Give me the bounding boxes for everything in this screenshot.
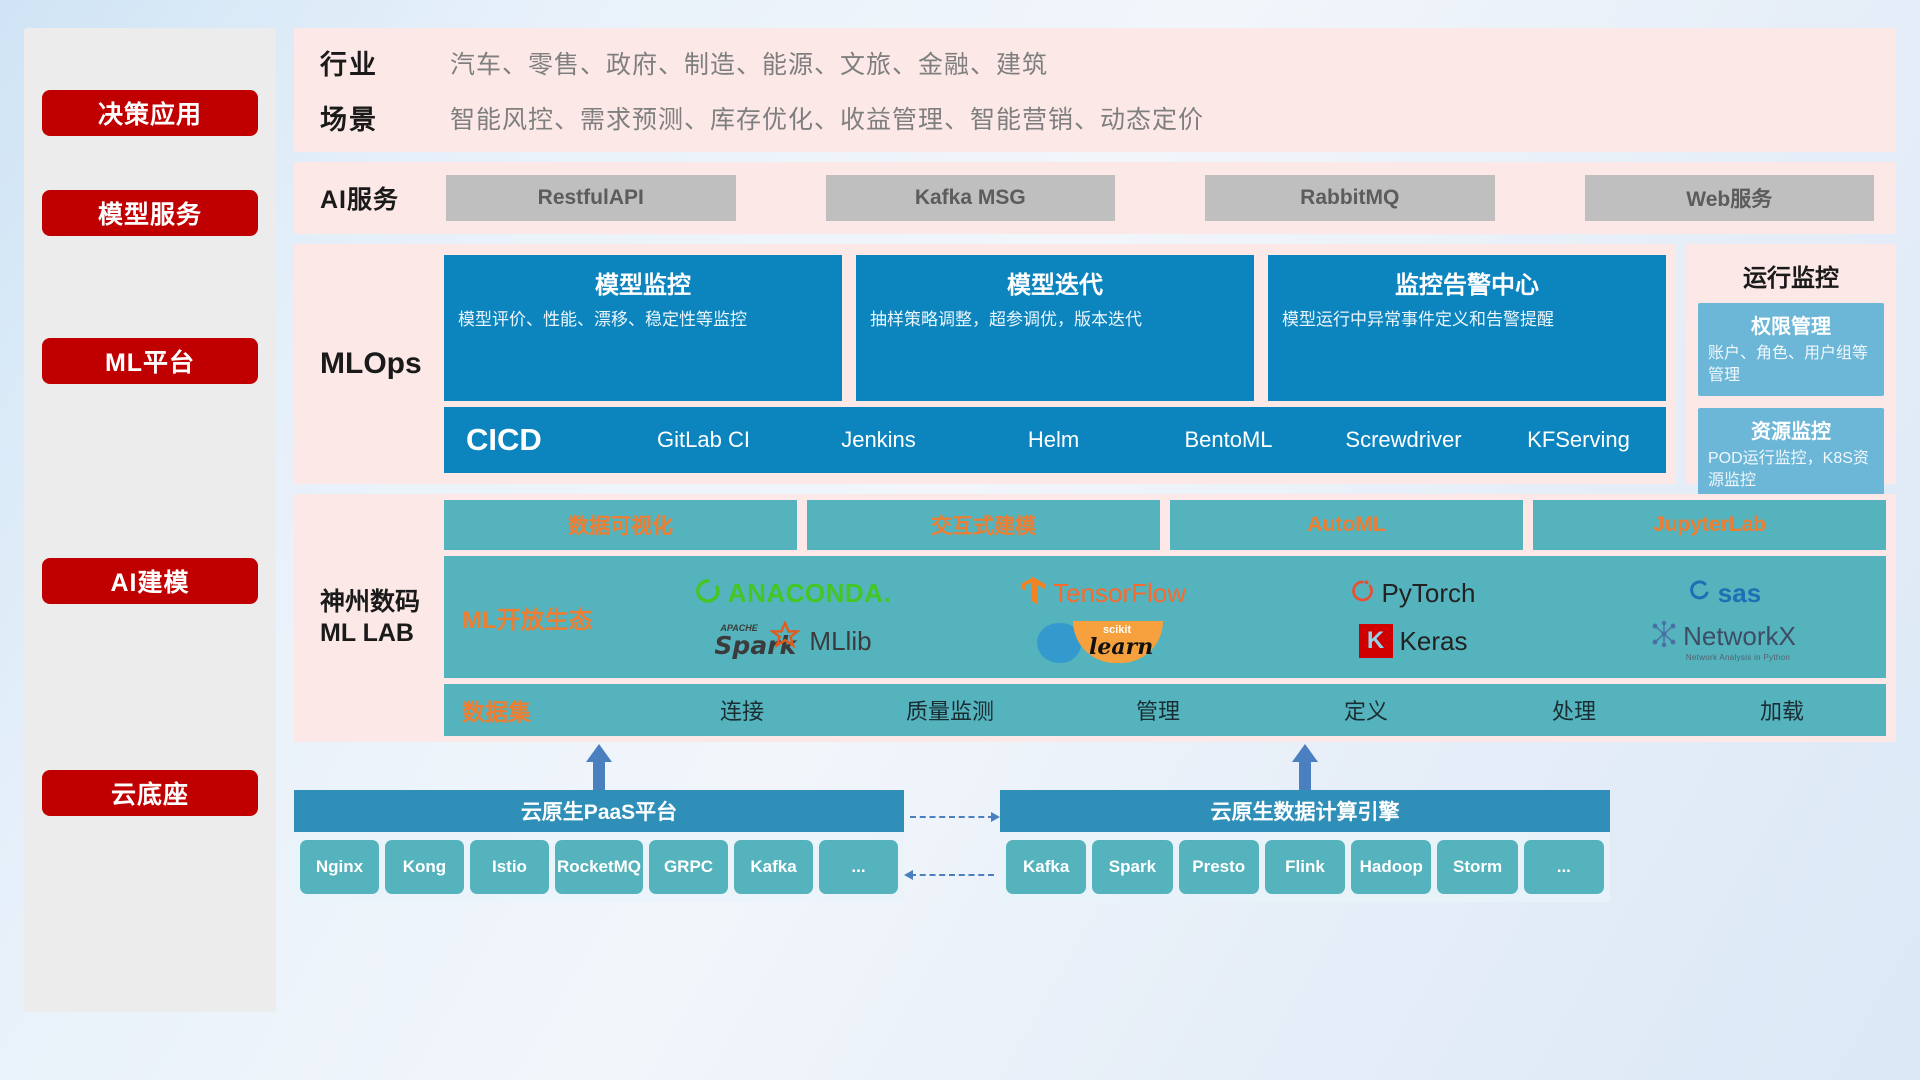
card-title: 资源监控 bbox=[1708, 415, 1874, 444]
logo-anaconda: ANACONDA. bbox=[695, 578, 891, 609]
dataset-row: 数据集 连接 质量监测 管理 定义 处理 加载 bbox=[444, 684, 1886, 736]
chip-grpc[interactable]: GRPC bbox=[649, 840, 728, 894]
cicd-item-jenkins[interactable]: Jenkins bbox=[791, 429, 966, 451]
logo-networkx: NetworkX Network Analysis in Python bbox=[1650, 620, 1796, 662]
cloud-paas-column: 云原生PaaS平台 Nginx Kong Istio RocketMQ GRPC… bbox=[294, 790, 904, 902]
logo-tensorflow: TensorFlow bbox=[1020, 576, 1186, 611]
ml-lab-label-line1: 神州数码 bbox=[320, 587, 430, 618]
cicd-title: CICD bbox=[466, 422, 616, 458]
tool-automl[interactable]: AutoML bbox=[1170, 500, 1523, 550]
dataset-item-process[interactable]: 处理 bbox=[1470, 694, 1678, 726]
logo-text: TensorFlow bbox=[1053, 578, 1186, 609]
logo-sas: sas bbox=[1685, 578, 1761, 609]
chip-flink[interactable]: Flink bbox=[1265, 840, 1345, 894]
chip-kafka[interactable]: Kafka bbox=[734, 840, 813, 894]
scenario-label: 场景 bbox=[320, 98, 424, 137]
card-desc: POD运行监控，K8S资源监控 bbox=[1708, 448, 1874, 491]
logo-text: MLlib bbox=[809, 626, 871, 657]
dataset-item-connect[interactable]: 连接 bbox=[638, 694, 846, 726]
logo-keras: K Keras bbox=[1359, 624, 1468, 658]
cloud-compute-title: 云原生数据计算引擎 bbox=[1000, 790, 1610, 832]
application-band: 行业 汽车、零售、政府、制造、能源、文旅、金融、建筑 场景 智能风控、需求预测、… bbox=[294, 28, 1896, 152]
cicd-item-kfserving[interactable]: KFServing bbox=[1491, 429, 1666, 451]
ai-service-label: AI服务 bbox=[320, 180, 424, 216]
monitor-card-permission[interactable]: 权限管理 账户、角色、用户组等管理 bbox=[1698, 303, 1884, 396]
ml-ecosystem-row: ML开放生态 ANACONDA. bbox=[444, 556, 1886, 678]
keras-icon: K bbox=[1359, 624, 1393, 658]
service-box-kafka-msg[interactable]: Kafka MSG bbox=[826, 175, 1116, 221]
cloud-compute-column: 云原生数据计算引擎 Kafka Spark Presto Flink Hadoo… bbox=[1000, 790, 1610, 902]
logo-spark-mllib: APACHE Spark MLlib bbox=[714, 621, 871, 661]
service-box-rabbitmq[interactable]: RabbitMQ bbox=[1205, 175, 1495, 221]
cicd-item-screwdriver[interactable]: Screwdriver bbox=[1316, 429, 1491, 451]
cloud-paas-chips: Nginx Kong Istio RocketMQ GRPC Kafka ... bbox=[294, 832, 904, 902]
chip-istio[interactable]: Istio bbox=[470, 840, 549, 894]
logo-text: ANACONDA. bbox=[728, 578, 891, 609]
dashed-arrow-left-icon bbox=[910, 874, 994, 876]
ml-lab-label-line2: ML LAB bbox=[320, 618, 430, 649]
chip-nginx[interactable]: Nginx bbox=[300, 840, 379, 894]
cloud-foundation-band: 云原生PaaS平台 Nginx Kong Istio RocketMQ GRPC… bbox=[294, 752, 1896, 902]
spark-icon: APACHE Spark bbox=[714, 621, 800, 661]
card-desc: 模型运行中异常事件定义和告警提醒 bbox=[1282, 308, 1652, 333]
monitor-card-resource[interactable]: 资源监控 POD运行监控，K8S资源监控 bbox=[1698, 408, 1884, 501]
chip-hadoop[interactable]: Hadoop bbox=[1351, 840, 1431, 894]
rail-label: 决策应用 bbox=[98, 95, 202, 131]
dashed-arrow-right-head-icon bbox=[991, 812, 1000, 822]
chip-kafka[interactable]: Kafka bbox=[1006, 840, 1086, 894]
chip-more[interactable]: ... bbox=[1524, 840, 1604, 894]
industry-value: 汽车、零售、政府、制造、能源、文旅、金融、建筑 bbox=[450, 45, 1048, 81]
rail-item-ai-modeling[interactable]: AI建模 bbox=[42, 558, 258, 604]
scenario-row: 场景 智能风控、需求预测、库存优化、收益管理、智能营销、动态定价 bbox=[320, 98, 1896, 137]
chip-rocketmq[interactable]: RocketMQ bbox=[555, 840, 643, 894]
rail-label: 模型服务 bbox=[98, 195, 202, 231]
cicd-item-helm[interactable]: Helm bbox=[966, 429, 1141, 451]
rail-label: 云底座 bbox=[111, 775, 189, 811]
cloud-compute-chips: Kafka Spark Presto Flink Hadoop Storm ..… bbox=[1000, 832, 1610, 902]
arrow-up-paas-icon bbox=[586, 744, 612, 790]
networkx-subtitle: Network Analysis in Python bbox=[1686, 653, 1790, 662]
logo-text: sas bbox=[1718, 578, 1761, 609]
industry-label: 行业 bbox=[320, 43, 424, 82]
cicd-row: CICD GitLab CI Jenkins Helm BentoML Scre… bbox=[444, 407, 1666, 473]
card-title: 模型迭代 bbox=[870, 265, 1240, 300]
ml-lab-label: 神州数码 ML LAB bbox=[320, 587, 430, 650]
pytorch-icon bbox=[1351, 578, 1375, 609]
mlops-card-model-iteration[interactable]: 模型迭代 抽样策略调整，超参调优，版本迭代 bbox=[856, 255, 1254, 401]
card-desc: 模型评价、性能、漂移、稳定性等监控 bbox=[458, 308, 828, 333]
service-box-web-service[interactable]: Web服务 bbox=[1585, 175, 1875, 221]
tensorflow-icon bbox=[1020, 576, 1046, 611]
rail-label: AI建模 bbox=[110, 563, 189, 599]
service-box-restfulapi[interactable]: RestfulAPI bbox=[446, 175, 736, 221]
mlops-label: MLOps bbox=[320, 347, 430, 381]
card-title: 模型监控 bbox=[458, 265, 828, 300]
runtime-monitor-title: 运行监控 bbox=[1698, 258, 1884, 293]
logo-text: learn bbox=[1089, 634, 1153, 660]
industry-row: 行业 汽车、零售、政府、制造、能源、文旅、金融、建筑 bbox=[320, 43, 1896, 82]
dashed-arrow-left-head-icon bbox=[904, 870, 913, 880]
rail-item-ml-platform[interactable]: ML平台 bbox=[42, 338, 258, 384]
sas-icon bbox=[1685, 578, 1711, 609]
architecture-diagram: 决策应用 模型服务 ML平台 AI建模 云底座 行业 汽车、零售、政府、制造、能… bbox=[0, 0, 1920, 1080]
rail-label: ML平台 bbox=[105, 343, 195, 379]
content-column: 行业 汽车、零售、政府、制造、能源、文旅、金融、建筑 场景 智能风控、需求预测、… bbox=[294, 28, 1896, 1060]
dataset-item-define[interactable]: 定义 bbox=[1262, 694, 1470, 726]
mlops-panel: MLOps 模型监控 模型评价、性能、漂移、稳定性等监控 模型迭代 抽样策略调整… bbox=[294, 244, 1676, 484]
scikit-learn-icon: scikit learn bbox=[1037, 617, 1169, 665]
dashed-arrow-right-icon bbox=[910, 816, 994, 818]
dataset-item-load[interactable]: 加载 bbox=[1678, 694, 1886, 726]
chip-presto[interactable]: Presto bbox=[1179, 840, 1259, 894]
rail-item-cloud-base[interactable]: 云底座 bbox=[42, 770, 258, 816]
ml-ecosystem-title: ML开放生态 bbox=[462, 600, 638, 635]
cicd-item-gitlab-ci[interactable]: GitLab CI bbox=[616, 429, 791, 451]
logo-text: NetworkX bbox=[1683, 621, 1796, 652]
logo-pytorch: PyTorch bbox=[1351, 578, 1476, 609]
tool-jupyterlab[interactable]: JupyterLab bbox=[1533, 500, 1886, 550]
cicd-item-bentoml[interactable]: BentoML bbox=[1141, 429, 1316, 451]
anaconda-icon bbox=[695, 578, 721, 609]
arrow-up-compute-icon bbox=[1292, 744, 1318, 790]
card-desc: 抽样策略调整，超参调优，版本迭代 bbox=[870, 308, 1240, 333]
dataset-title: 数据集 bbox=[462, 693, 638, 727]
rail-item-decision-app[interactable]: 决策应用 bbox=[42, 90, 258, 136]
chip-kong[interactable]: Kong bbox=[385, 840, 464, 894]
scenario-value: 智能风控、需求预测、库存优化、收益管理、智能营销、动态定价 bbox=[450, 100, 1204, 136]
logo-scikit-learn: scikit learn bbox=[1037, 617, 1169, 665]
chip-storm[interactable]: Storm bbox=[1437, 840, 1517, 894]
ai-service-band: AI服务 RestfulAPI Kafka MSG RabbitMQ Web服务 bbox=[294, 162, 1896, 234]
rail-item-model-service[interactable]: 模型服务 bbox=[42, 190, 258, 236]
tool-data-visualization[interactable]: 数据可视化 bbox=[444, 500, 797, 550]
tool-interactive-modeling[interactable]: 交互式建模 bbox=[807, 500, 1160, 550]
mlops-card-model-monitoring[interactable]: 模型监控 模型评价、性能、漂移、稳定性等监控 bbox=[444, 255, 842, 401]
mlops-card-alert-center[interactable]: 监控告警中心 模型运行中异常事件定义和告警提醒 bbox=[1268, 255, 1666, 401]
runtime-monitor-panel: 运行监控 权限管理 账户、角色、用户组等管理 资源监控 POD运行监控，K8S资… bbox=[1686, 244, 1896, 484]
logo-text: PyTorch bbox=[1382, 578, 1476, 609]
card-title: 监控告警中心 bbox=[1282, 265, 1652, 300]
chip-more[interactable]: ... bbox=[819, 840, 898, 894]
networkx-icon bbox=[1650, 620, 1678, 653]
dataset-item-manage[interactable]: 管理 bbox=[1054, 694, 1262, 726]
card-desc: 账户、角色、用户组等管理 bbox=[1708, 343, 1874, 386]
dataset-item-quality[interactable]: 质量监测 bbox=[846, 694, 1054, 726]
cloud-paas-title: 云原生PaaS平台 bbox=[294, 790, 904, 832]
ai-modeling-band: 神州数码 ML LAB 数据可视化 交互式建模 AutoML JupyterLa… bbox=[294, 494, 1896, 742]
cloud-link-arrows bbox=[904, 804, 1000, 886]
layer-rail: 决策应用 模型服务 ML平台 AI建模 云底座 bbox=[24, 28, 276, 1012]
card-title: 权限管理 bbox=[1708, 310, 1874, 339]
chip-spark[interactable]: Spark bbox=[1092, 840, 1172, 894]
logo-text: Keras bbox=[1400, 626, 1468, 657]
ml-platform-band: MLOps 模型监控 模型评价、性能、漂移、稳定性等监控 模型迭代 抽样策略调整… bbox=[294, 244, 1896, 484]
